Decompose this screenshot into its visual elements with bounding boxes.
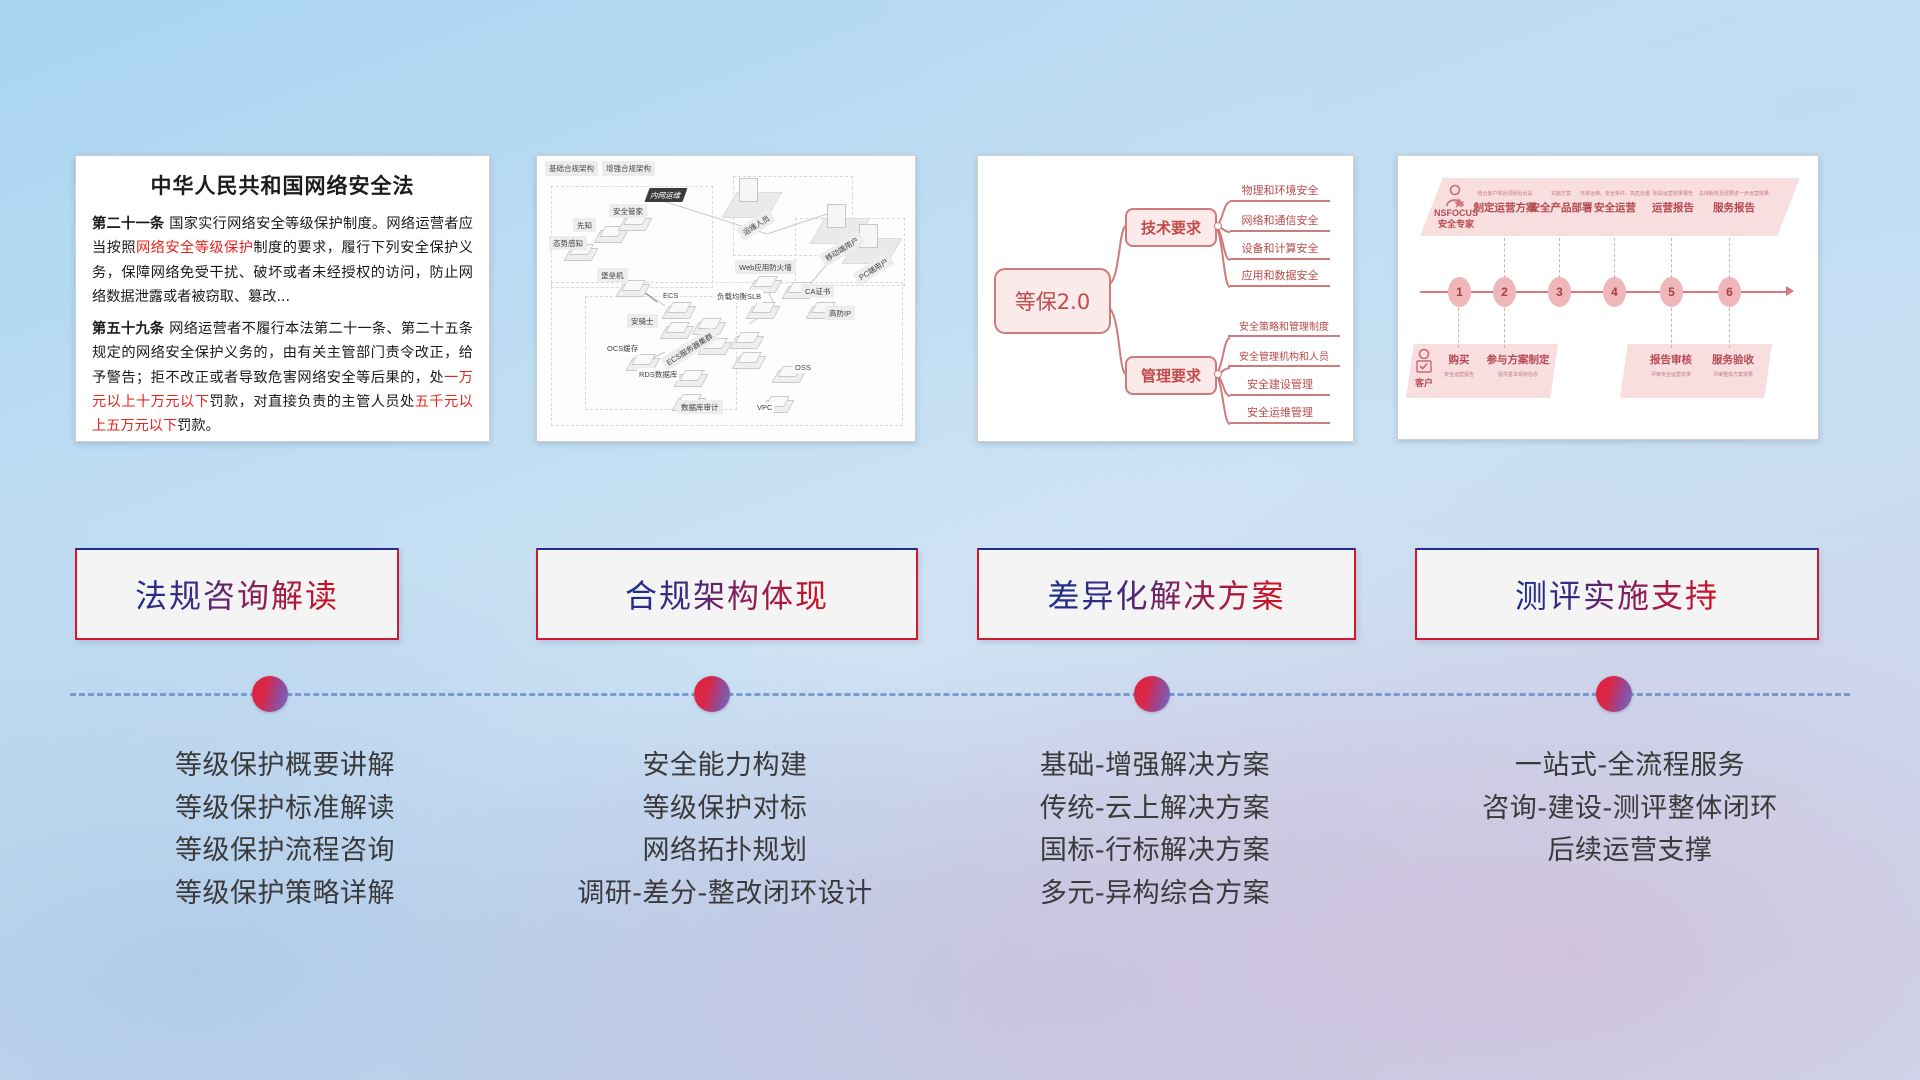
timeline-step-6-title: 服务报告 — [1692, 200, 1776, 215]
detail-column-assessment: 一站式-全流程服务 咨询-建设-测评整体闭环 后续运营支撑 — [1380, 745, 1880, 873]
expert-person-icon — [1444, 184, 1466, 208]
mindmap-root: 等保2.0 — [994, 268, 1111, 334]
thumbnail-card-row: 中华人民共和国网络安全法 第二十一条 国家实行网络安全等级保护制度。网络运营者应… — [0, 150, 1920, 445]
mindmap-leaf-device-computing: 设备和计算安全 — [1230, 240, 1330, 260]
mindmap-collapse-dot-technical[interactable] — [1214, 222, 1222, 230]
detail-column-regulatory: 等级保护概要讲解 等级保护标准解读 等级保护流程咨询 等级保护策略详解 — [60, 745, 510, 916]
timeline-customer-step-plan: 参与方案制定 提供基本现状信息 — [1480, 352, 1556, 381]
card-dengbao-mindmap[interactable]: 等保2.0 技术要求 物理和环境安全 网络和通信安全 设备和计算安全 应用和数据… — [977, 155, 1354, 442]
architecture-label-vpc: VPC — [755, 402, 774, 413]
timeline-customer-step-plan-sub: 提供基本现状信息 — [1480, 371, 1556, 378]
timeline-step-6: 总体服务及需要进一步运营效果 服务报告 — [1692, 190, 1776, 215]
architecture-label-rds: RDS数据库 — [637, 368, 679, 381]
list-item: 等级保护概要讲解 — [60, 745, 510, 788]
customer-person-icon — [1414, 348, 1434, 374]
mindmap-branch-management: 管理要求 — [1125, 356, 1217, 395]
detail-column-row: 等级保护概要讲解 等级保护标准解读 等级保护流程咨询 等级保护策略详解 安全能力… — [0, 745, 1920, 975]
detail-column-architecture: 安全能力构建 等级保护对标 网络拓扑规划 调研-差分-整改闭环设计 — [500, 745, 950, 916]
timeline-marker-1[interactable] — [252, 676, 288, 712]
law-article-21: 第二十一条 国家实行网络安全等级保护制度。网络运营者应当按照网络安全等级保护制度… — [92, 212, 473, 310]
architecture-node-ecs4 — [733, 332, 759, 349]
pill-assessment-support-label: 测评实施支持 — [1515, 571, 1719, 617]
law-article-21-label: 第二十一条 — [92, 216, 164, 232]
architecture-label-situational: 态势感知 — [549, 236, 587, 250]
architecture-node-bastion — [619, 280, 645, 297]
architecture-label-antiddos: 高防IP — [825, 306, 855, 320]
architecture-label-internal-ops: 内网运维 — [644, 188, 687, 202]
architecture-label-waf: Web应用防火墙 — [735, 260, 796, 274]
timeline-node-1[interactable]: 1 — [1448, 277, 1471, 307]
architecture-node-agent — [663, 322, 689, 339]
architecture-label-security-butler: 安全管家 — [609, 204, 647, 218]
mindmap-leaf-construction-management: 安全建设管理 — [1230, 376, 1330, 396]
mindmap-branch-technical: 技术要求 — [1125, 208, 1217, 247]
timeline-dashed-line — [70, 693, 1850, 696]
list-item: 传统-云上解决方案 — [930, 788, 1380, 831]
timeline-customer-step-purchase: 购买 安全运营报告 — [1434, 352, 1484, 381]
law-article-59-label: 第五十九条 — [92, 321, 164, 337]
list-item: 多元-异构综合方案 — [930, 873, 1380, 916]
law-article-59-text-c: 罚款。 — [177, 418, 220, 434]
mindmap-leaf-physical-environment: 物理和环境安全 — [1230, 182, 1330, 202]
timeline-node-2[interactable]: 2 — [1493, 277, 1516, 307]
architecture-label-oss: OSS — [793, 362, 813, 373]
timeline-step-6-sub: 总体服务及需要进一步运营效果 — [1692, 190, 1776, 197]
timeline-customer-step-acceptance-title: 服务验收 — [1698, 352, 1768, 367]
architecture-label-ca: CA证书 — [801, 284, 834, 298]
timeline-customer-step-acceptance: 服务验收 评审整体方案效果 — [1698, 352, 1768, 381]
timeline-customer-step-report-review-sub: 评审安全运营效果 — [1638, 371, 1704, 378]
architecture-label-xianzhi: 先知 — [573, 218, 596, 232]
timeline-customer-step-purchase-title: 购买 — [1434, 352, 1484, 367]
pill-regulatory-consulting[interactable]: 法规咨询解读 — [75, 548, 399, 640]
pill-differentiated-solution[interactable]: 差异化解决方案 — [977, 548, 1356, 640]
timeline-marker-2[interactable] — [694, 676, 730, 712]
list-item: 等级保护对标 — [500, 788, 950, 831]
mindmap-leaf-security-policy: 安全策略和管理制度 — [1228, 318, 1340, 337]
architecture-label-bastion: 堡垒机 — [597, 268, 628, 282]
architecture-label-ocs: OCS缓存 — [605, 342, 640, 355]
pill-compliance-architecture-label: 合规架构体现 — [625, 571, 829, 617]
timeline-customer-step-purchase-sub: 安全运营报告 — [1434, 371, 1484, 378]
detail-column-solution: 基础-增强解决方案 传统-云上解决方案 国标-行标解决方案 多元-异构综合方案 — [930, 745, 1380, 916]
list-item: 国标-行标解决方案 — [930, 830, 1380, 873]
mindmap-diagram: 等保2.0 技术要求 物理和环境安全 网络和通信安全 设备和计算安全 应用和数据… — [978, 156, 1353, 441]
architecture-node-ecs5 — [735, 352, 761, 369]
timeline-axis-arrow — [1786, 286, 1794, 296]
timeline-customer-step-report-review: 报告审核 评审安全运营效果 — [1638, 352, 1704, 381]
pill-differentiated-solution-label: 差异化解决方案 — [1047, 571, 1285, 617]
timeline-customer-step-report-review-title: 报告审核 — [1638, 352, 1704, 367]
pill-assessment-support[interactable]: 测评实施支持 — [1415, 548, 1819, 640]
list-item: 安全能力构建 — [500, 745, 950, 788]
mindmap-leaf-network-communication: 网络和通信安全 — [1230, 212, 1330, 232]
architecture-label-db-audit: 数据库审计 — [677, 400, 723, 414]
architecture-node-ecs — [665, 302, 691, 319]
card-service-timeline[interactable]: NSFOCUS 安全专家 客户 1 2 3 4 5 6 — [1397, 155, 1819, 440]
timeline-connector — [0, 665, 1920, 723]
timeline-node-6[interactable]: 6 — [1718, 277, 1741, 307]
timeline-marker-4[interactable] — [1596, 676, 1632, 712]
law-article-21-highlight: 网络安全等级保护 — [136, 240, 253, 256]
law-article-59: 第五十九条 网络运营者不履行本法第二十一条、第二十五条规定的网络安全保护义务的，… — [92, 317, 473, 439]
law-title: 中华人民共和国网络安全法 — [92, 170, 473, 200]
architecture-node-slb — [749, 302, 775, 319]
architecture-diagram: 基础合规架构 增强合规架构 — [537, 156, 915, 441]
pill-regulatory-consulting-label: 法规咨询解读 — [135, 571, 339, 617]
list-item: 基础-增强解决方案 — [930, 745, 1380, 788]
section-heading-row: 法规咨询解读 合规架构体现 差异化解决方案 测评实施支持 — [0, 548, 1920, 644]
service-timeline-diagram: NSFOCUS 安全专家 客户 1 2 3 4 5 6 — [1398, 156, 1818, 439]
timeline-node-4[interactable]: 4 — [1603, 277, 1626, 307]
mindmap-leaf-operations-management: 安全运维管理 — [1230, 404, 1330, 424]
law-article-59-text-b: 罚款，对直接负责的主管人员处 — [209, 394, 414, 410]
card-compliance-architecture[interactable]: 基础合规架构 增强合规架构 — [536, 155, 916, 442]
architecture-label-slb: 负载均衡SLB — [715, 290, 763, 303]
list-item: 一站式-全流程服务 — [1380, 745, 1880, 788]
architecture-node-rds — [677, 370, 703, 387]
timeline-customer-step-plan-title: 参与方案制定 — [1480, 352, 1556, 367]
mindmap-leaf-application-data: 应用和数据安全 — [1230, 267, 1330, 287]
list-item: 等级保护标准解读 — [60, 788, 510, 831]
mindmap-collapse-dot-management[interactable] — [1214, 370, 1222, 378]
architecture-label-ecs: ECS — [661, 290, 680, 301]
list-item: 调研-差分-整改闭环设计 — [500, 873, 950, 916]
architecture-label-agent: 安骑士 — [627, 314, 658, 328]
list-item: 等级保护流程咨询 — [60, 830, 510, 873]
timeline-node-3[interactable]: 3 — [1548, 277, 1571, 307]
mindmap-leaf-security-org-personnel: 安全管理机构和人员 — [1228, 348, 1340, 367]
timeline-node-5[interactable]: 5 — [1660, 277, 1683, 307]
timeline-marker-3[interactable] — [1134, 676, 1170, 712]
list-item: 咨询-建设-测评整体闭环 — [1380, 788, 1880, 831]
law-text-body: 中华人民共和国网络安全法 第二十一条 国家实行网络安全等级保护制度。网络运营者应… — [76, 156, 489, 441]
list-item: 等级保护策略详解 — [60, 873, 510, 916]
list-item: 后续运营支撑 — [1380, 830, 1880, 873]
pill-compliance-architecture[interactable]: 合规架构体现 — [536, 548, 918, 640]
timeline-provider-role-line2: 安全专家 — [1432, 219, 1480, 230]
card-cybersecurity-law[interactable]: 中华人民共和国网络安全法 第二十一条 国家实行网络安全等级保护制度。网络运营者应… — [75, 155, 490, 442]
timeline-customer-step-acceptance-sub: 评审整体方案效果 — [1698, 371, 1768, 378]
list-item: 网络拓扑规划 — [500, 830, 950, 873]
